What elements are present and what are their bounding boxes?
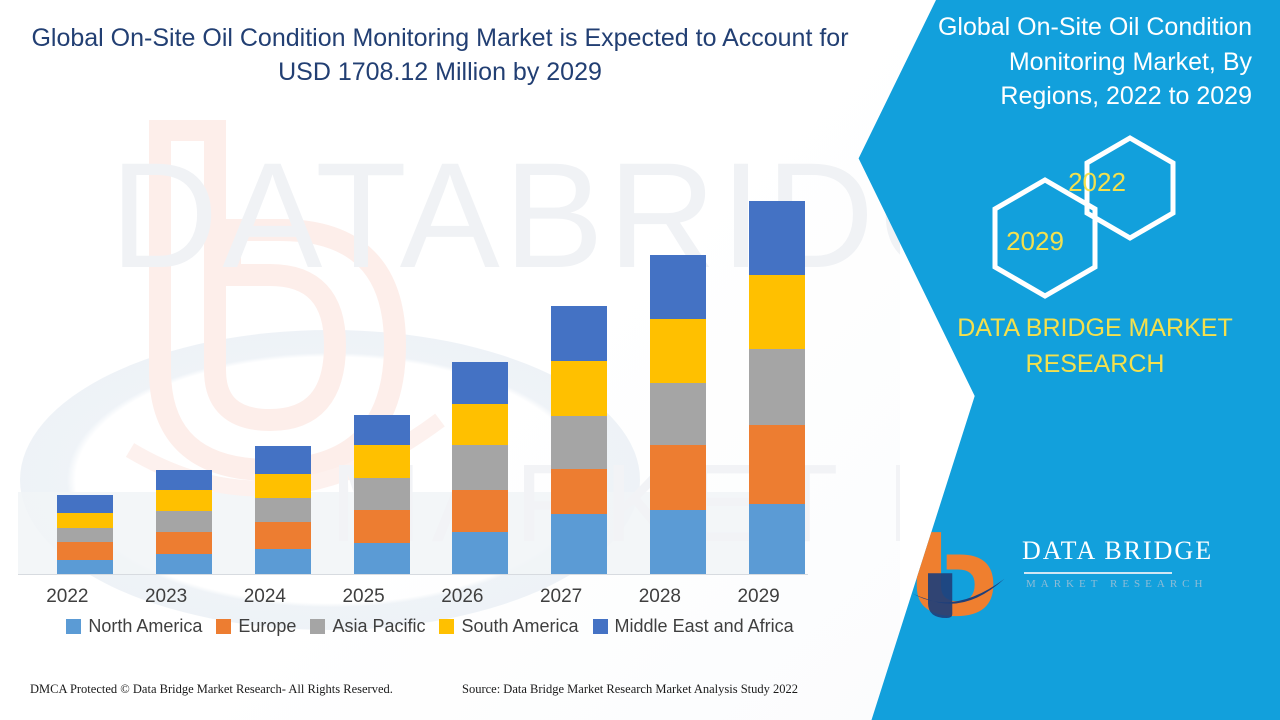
- bar-segment: [255, 549, 311, 575]
- x-tick-2028: 2028: [615, 586, 705, 608]
- legend-label: Middle East and Africa: [615, 616, 794, 637]
- bar-segment: [156, 532, 212, 554]
- legend-swatch-icon: [66, 619, 81, 634]
- bar-segment: [255, 522, 311, 549]
- logo-subtitle: MARKET RESEARCH: [1026, 578, 1207, 590]
- bar-segment: [255, 474, 311, 498]
- bar-segment: [156, 554, 212, 575]
- bar-segment: [57, 542, 113, 560]
- legend-label: Europe: [238, 616, 296, 637]
- x-tick-2025: 2025: [319, 586, 409, 608]
- logo-title: DATA BRIDGE: [1022, 536, 1213, 566]
- bar-group-2022: [57, 495, 113, 575]
- bar-segment: [650, 383, 706, 445]
- bar-segment: [452, 532, 508, 575]
- bar-segment: [354, 445, 410, 477]
- hex-label-end-year: 2029: [985, 226, 1085, 257]
- chart-legend: North AmericaEuropeAsia PacificSouth Ame…: [0, 616, 860, 637]
- bar-group-2028: [650, 255, 706, 575]
- legend-item[interactable]: Europe: [216, 616, 296, 637]
- legend-swatch-icon: [439, 619, 454, 634]
- legend-item[interactable]: North America: [66, 616, 202, 637]
- footer-source-note: Source: Data Bridge Market Research Mark…: [462, 682, 798, 697]
- bar-segment: [452, 445, 508, 489]
- bar-segment: [354, 415, 410, 445]
- bar-segment: [255, 498, 311, 522]
- bar-segment: [57, 528, 113, 542]
- x-tick-2026: 2026: [417, 586, 507, 608]
- x-tick-2022: 2022: [22, 586, 112, 608]
- bar-segment: [354, 543, 410, 575]
- stacked-bar-chart: [18, 150, 808, 575]
- x-axis-tick-labels: 20222023202420252026202720282029: [18, 586, 808, 616]
- logo-divider: [1024, 572, 1172, 574]
- bar-segment: [551, 361, 607, 416]
- bar-group-2029: [749, 201, 805, 575]
- bar-segment: [650, 445, 706, 509]
- bar-segment: [255, 446, 311, 473]
- bar-segment: [749, 504, 805, 575]
- x-tick-2023: 2023: [121, 586, 211, 608]
- data-bridge-logo: DATA BRIDGE MARKET RESEARCH: [900, 520, 1230, 630]
- bar-segment: [452, 490, 508, 532]
- bar-segment: [452, 362, 508, 404]
- bar-segment: [551, 469, 607, 513]
- legend-label: South America: [461, 616, 578, 637]
- legend-item[interactable]: Asia Pacific: [310, 616, 425, 637]
- bar-segment: [57, 560, 113, 575]
- legend-item[interactable]: Middle East and Africa: [593, 616, 794, 637]
- brand-panel: Global On-Site Oil Condition Monitoring …: [850, 0, 1280, 720]
- x-tick-2024: 2024: [220, 586, 310, 608]
- brand-name: DATA BRIDGE MARKET RESEARCH: [850, 310, 1280, 383]
- bar-segment: [749, 275, 805, 348]
- bar-segment: [749, 425, 805, 503]
- bar-segment: [749, 201, 805, 275]
- x-tick-2029: 2029: [714, 586, 804, 608]
- bar-segment: [551, 306, 607, 361]
- bar-group-2025: [354, 415, 410, 575]
- legend-item[interactable]: South America: [439, 616, 578, 637]
- hexagon-badges: 2022 2029: [930, 130, 1250, 310]
- chart-panel: DATABRIDGE MARKET RESEARCH Global On-Sit…: [0, 0, 900, 720]
- bar-group-2023: [156, 470, 212, 575]
- bar-segment: [650, 510, 706, 575]
- legend-label: Asia Pacific: [332, 616, 425, 637]
- bar-segment: [749, 349, 805, 425]
- bar-segment: [354, 478, 410, 510]
- bar-segment: [57, 513, 113, 528]
- data-bridge-mark-icon: [900, 524, 1012, 628]
- hexagon-outline-icon: [930, 130, 1250, 310]
- bar-segment: [156, 470, 212, 489]
- infographic-page: DATABRIDGE MARKET RESEARCH Global On-Sit…: [0, 0, 1280, 720]
- x-tick-2027: 2027: [516, 586, 606, 608]
- bar-segment: [354, 510, 410, 543]
- bar-segment: [57, 495, 113, 513]
- bar-group-2026: [452, 362, 508, 575]
- footer-dmca-notice: DMCA Protected © Data Bridge Market Rese…: [30, 682, 393, 697]
- bar-segment: [650, 319, 706, 383]
- bar-segment: [650, 255, 706, 318]
- bar-segment: [551, 416, 607, 469]
- bar-segment: [156, 511, 212, 532]
- bar-group-2027: [551, 306, 607, 575]
- bar-segment: [551, 514, 607, 575]
- hex-label-start-year: 2022: [1047, 167, 1147, 198]
- legend-swatch-icon: [310, 619, 325, 634]
- page-title: Global On-Site Oil Condition Monitoring …: [30, 22, 850, 89]
- bar-group-2024: [255, 446, 311, 575]
- legend-swatch-icon: [593, 619, 608, 634]
- bar-segment: [452, 404, 508, 445]
- legend-label: North America: [88, 616, 202, 637]
- legend-swatch-icon: [216, 619, 231, 634]
- bar-segment: [156, 490, 212, 511]
- chart-baseline-axis: [18, 574, 808, 575]
- brand-panel-title: Global On-Site Oil Condition Monitoring …: [922, 10, 1252, 114]
- footer: DMCA Protected © Data Bridge Market Rese…: [0, 682, 870, 710]
